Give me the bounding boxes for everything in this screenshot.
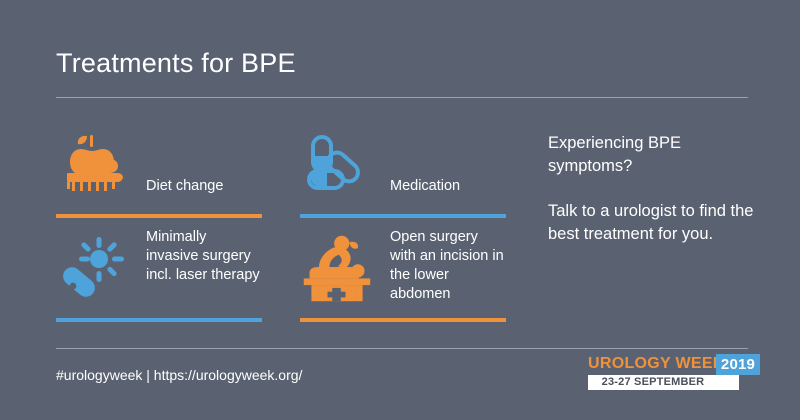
urology-week-logo[interactable]: UROLOGY WEEK 2019 23-27 SEPTEMBER — [588, 354, 760, 390]
cta-advice: Talk to a urologist to find the best tre… — [548, 200, 763, 246]
treatment-card-medication[interactable]: Medication — [300, 126, 506, 218]
title-divider — [56, 97, 748, 98]
logo-date-text: 23-27 SEPTEMBER — [588, 375, 718, 390]
treatment-underline — [300, 214, 506, 218]
treatments-grid: Diet change — [56, 126, 506, 322]
footer-divider — [56, 348, 748, 349]
treatment-card-open-surgery[interactable]: Open surgery with an incision in the low… — [300, 228, 506, 322]
page-title: Treatments for BPE — [56, 48, 296, 79]
treatment-underline — [300, 318, 506, 322]
open-surgery-table-icon — [300, 230, 374, 306]
cta-question: Experiencing BPE symptoms? — [548, 132, 763, 178]
treatment-label: Minimally invasive surgery incl. laser t… — [146, 228, 262, 285]
treatment-card-minimally-invasive-surgery[interactable]: Minimally invasive surgery incl. laser t… — [56, 228, 262, 322]
treatment-underline — [56, 214, 262, 218]
logo-wordmark: UROLOGY WEEK — [588, 355, 725, 373]
laser-wand-icon — [56, 230, 130, 306]
treatment-card-diet-change[interactable]: Diet change — [56, 126, 262, 218]
logo-year-text: 2019 — [716, 354, 760, 375]
logo-top-row: UROLOGY WEEK 2019 — [588, 354, 760, 373]
treatment-label: Open surgery with an incision in the low… — [390, 228, 506, 304]
treatment-underline — [56, 318, 262, 322]
call-to-action: Experiencing BPE symptoms? Talk to a uro… — [548, 132, 763, 246]
footer-hashtag-url[interactable]: #urologyweek | https://urologyweek.org/ — [56, 367, 302, 383]
treatment-label: Medication — [390, 177, 506, 196]
pill-capsules-icon — [300, 126, 374, 198]
treatment-label: Diet change — [146, 177, 262, 196]
apple-measuring-tape-icon — [56, 126, 130, 198]
infographic-canvas: Treatments for BPE — [0, 0, 800, 420]
